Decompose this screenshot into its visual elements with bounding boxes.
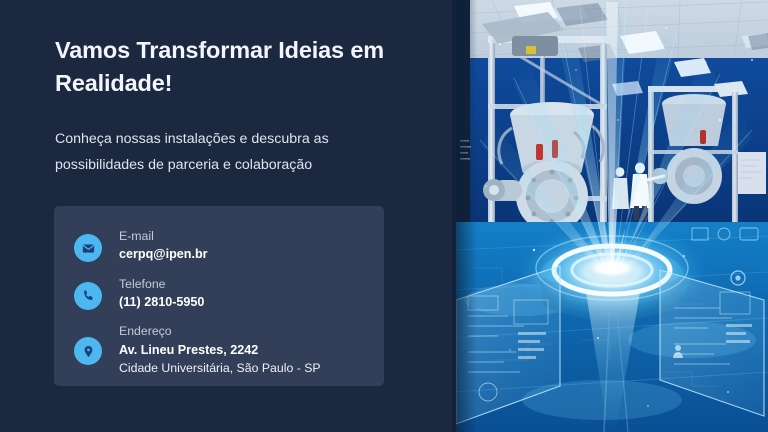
contact-label-address: Endereço bbox=[119, 324, 172, 338]
contact-row-email[interactable]: E-mail cerpq@ipen.br bbox=[54, 226, 384, 264]
envelope-icon bbox=[74, 234, 102, 262]
contact-text-phone: Telefone (11) 2810-5950 bbox=[119, 274, 204, 312]
contact-value-address-street: Av. Lineu Prestes, 2242 bbox=[119, 343, 258, 357]
page-subtitle: Conheça nossas instalações e descubra as… bbox=[55, 127, 405, 179]
phone-icon bbox=[74, 282, 102, 310]
contact-label-phone: Telefone bbox=[119, 277, 166, 291]
contact-value-address-city: Cidade Universitária, São Paulo - SP bbox=[119, 361, 321, 375]
contact-row-phone[interactable]: Telefone (11) 2810-5950 bbox=[54, 274, 384, 312]
laboratory-hologram-illustration bbox=[452, 0, 768, 432]
page-title: Vamos Transformar Ideias em Realidade! bbox=[55, 34, 405, 101]
laboratory-hologram-photo bbox=[452, 0, 768, 432]
contact-value-phone[interactable]: (11) 2810-5950 bbox=[119, 295, 204, 309]
left-content-panel: Vamos Transformar Ideias em Realidade! C… bbox=[0, 0, 452, 432]
contact-text-email: E-mail cerpq@ipen.br bbox=[119, 226, 208, 264]
contact-label-email: E-mail bbox=[119, 229, 154, 243]
contact-value-email[interactable]: cerpq@ipen.br bbox=[119, 247, 208, 261]
contact-card: E-mail cerpq@ipen.br Telefone (11) 2810-… bbox=[54, 206, 384, 386]
promo-slide: Vamos Transformar Ideias em Realidade! C… bbox=[0, 0, 768, 432]
contact-row-address[interactable]: Endereço Av. Lineu Prestes, 2242 Cidade … bbox=[54, 321, 384, 378]
contact-text-address: Endereço Av. Lineu Prestes, 2242 Cidade … bbox=[119, 321, 321, 378]
map-pin-icon bbox=[74, 337, 102, 365]
